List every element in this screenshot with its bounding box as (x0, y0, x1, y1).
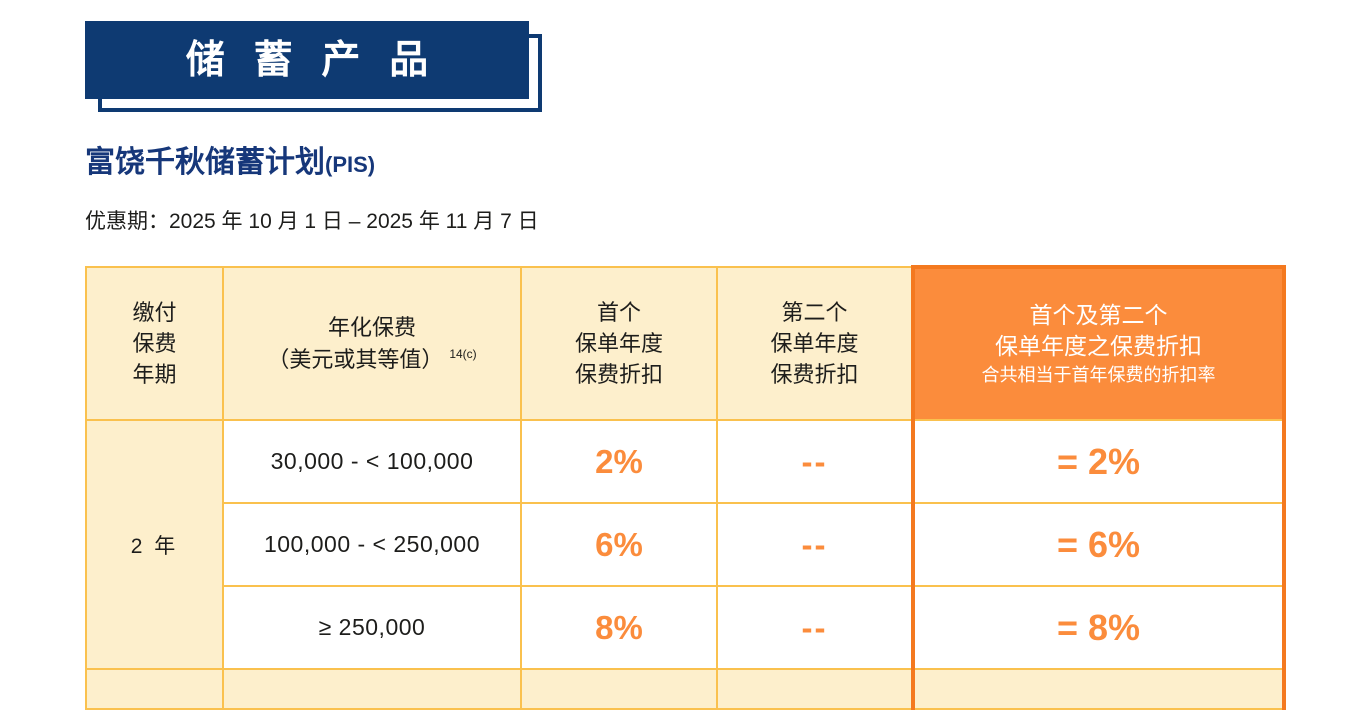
footnote-marker: 14(c) (449, 347, 476, 361)
header-combined-line1: 首个及第二个 (1030, 302, 1168, 328)
header-payment-term: 缴付 保费 年期 (86, 267, 223, 420)
header-annual-premium-line2: （美元或其等值） (267, 347, 443, 372)
header-first-year-line2: 保单年度 (575, 331, 663, 356)
banner-solid-box: 储 蓄 产 品 (85, 21, 529, 99)
header-second-year-line2: 保单年度 (770, 331, 858, 356)
cell-second-year-discount: -- (717, 586, 913, 669)
cell-premium-band: 30,000 - < 100,000 (223, 420, 521, 503)
header-payment-term-line3: 年期 (132, 362, 176, 387)
table-row-partial (86, 669, 1284, 709)
table-row: 2 年 30,000 - < 100,000 2% -- = 2% (86, 420, 1284, 503)
header-second-year-line3: 保费折扣 (770, 362, 858, 387)
header-first-year-discount: 首个 保单年度 保费折扣 (521, 267, 717, 420)
plan-code: (PIS) (325, 152, 375, 177)
header-annual-premium: 年化保费 （美元或其等值）14(c) (223, 267, 521, 420)
header-payment-term-line2: 保费 (132, 331, 176, 356)
premium-discount-table: 缴付 保费 年期 年化保费 （美元或其等值）14(c) 首个 保单年度 保费折扣… (85, 265, 1286, 710)
header-combined-line2: 保单年度之保费折扣 (995, 333, 1202, 359)
cell-second-year-discount: -- (717, 420, 913, 503)
header-first-year-line1: 首个 (597, 300, 641, 325)
cell-premium-band: ≥ 250,000 (223, 586, 521, 669)
header-annual-premium-line1: 年化保费 (328, 315, 416, 340)
cell-combined-discount: = 6% (913, 503, 1284, 586)
table-row: ≥ 250,000 8% -- = 8% (86, 586, 1284, 669)
header-second-year-line1: 第二个 (781, 300, 847, 325)
cell-partial (86, 669, 223, 709)
cell-partial (717, 669, 913, 709)
page-title: 富饶千秋储蓄计划(PIS) (85, 146, 375, 179)
header-combined-line3: 合共相当于首年保费的折扣率 (915, 362, 1282, 388)
banner-title: 储 蓄 产 品 (177, 41, 438, 80)
table-header-row: 缴付 保费 年期 年化保费 （美元或其等值）14(c) 首个 保单年度 保费折扣… (86, 267, 1284, 420)
cell-combined-discount: = 2% (913, 420, 1284, 503)
savings-product-page: 储 蓄 产 品 富饶千秋储蓄计划(PIS) 优惠期：2025 年 10 月 1 … (0, 0, 1361, 675)
cell-first-year-discount: 8% (521, 586, 717, 669)
header-second-year-discount: 第二个 保单年度 保费折扣 (717, 267, 913, 420)
promotion-period: 优惠期：2025 年 10 月 1 日 – 2025 年 11 月 7 日 (85, 208, 539, 235)
header-payment-term-line1: 缴付 (132, 300, 176, 325)
cell-combined-discount: = 8% (913, 586, 1284, 669)
cell-first-year-discount: 2% (521, 420, 717, 503)
table-row: 100,000 - < 250,000 6% -- = 6% (86, 503, 1284, 586)
header-combined-discount: 首个及第二个 保单年度之保费折扣 合共相当于首年保费的折扣率 (913, 267, 1284, 420)
plan-name: 富饶千秋储蓄计划 (85, 146, 325, 179)
cell-premium-band: 100,000 - < 250,000 (223, 503, 521, 586)
cell-second-year-discount: -- (717, 503, 913, 586)
cell-partial (913, 669, 1284, 709)
cell-partial (521, 669, 717, 709)
header-first-year-line3: 保费折扣 (575, 362, 663, 387)
cell-partial (223, 669, 521, 709)
cell-first-year-discount: 6% (521, 503, 717, 586)
banner: 储 蓄 产 品 (85, 21, 545, 115)
cell-payment-term: 2 年 (86, 420, 223, 669)
